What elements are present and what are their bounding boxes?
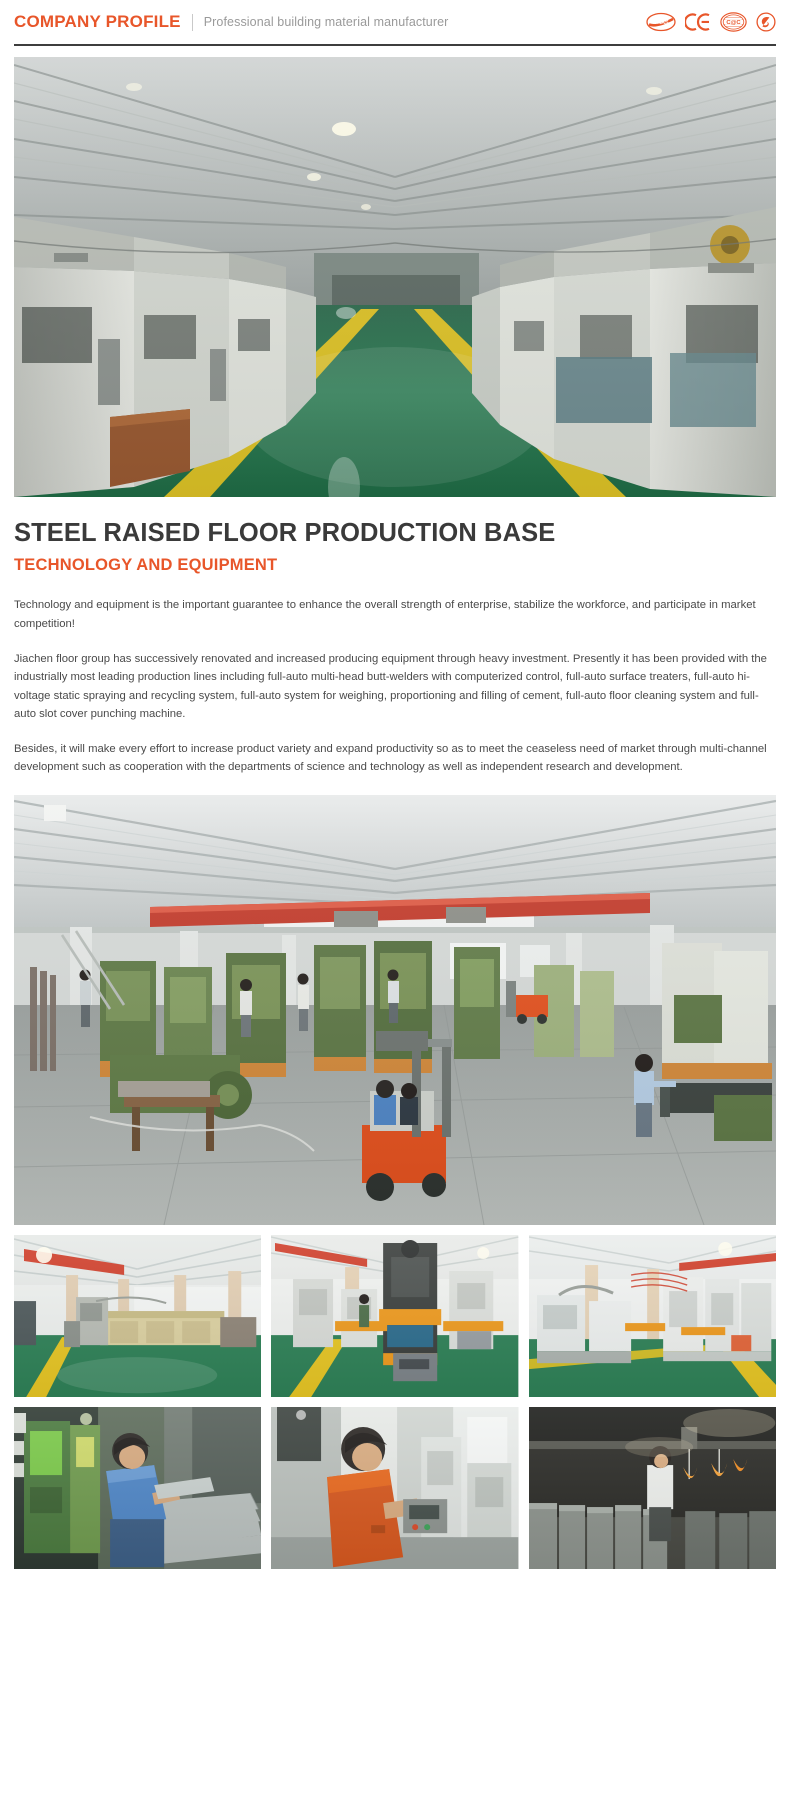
gallery-thumb-5[interactable] bbox=[271, 1407, 518, 1569]
gallery-thumb-3-illustration bbox=[529, 1235, 776, 1397]
gallery-thumb-4[interactable] bbox=[14, 1407, 261, 1569]
page-header: COMPANY PROFILE Professional building ma… bbox=[0, 0, 790, 44]
header-underline bbox=[14, 44, 776, 46]
gallery-grid-row-1 bbox=[14, 1235, 776, 1397]
page-title: COMPANY PROFILE bbox=[14, 12, 181, 32]
article-subtitle: TECHNOLOGY AND EQUIPMENT bbox=[14, 556, 776, 575]
hero-image bbox=[14, 57, 776, 497]
gallery-thumb-6[interactable] bbox=[529, 1407, 776, 1569]
gallery-thumb-3[interactable] bbox=[529, 1235, 776, 1397]
swirl-badge-icon bbox=[756, 12, 776, 32]
gallery-grid-row-2 bbox=[14, 1407, 776, 1569]
svg-text:CNAS: CNAS bbox=[653, 20, 669, 26]
svg-text:C@C: C@C bbox=[726, 20, 741, 26]
gallery-thumb-2-illustration bbox=[271, 1235, 518, 1397]
ce-badge-icon bbox=[685, 12, 711, 32]
header-tagline: Professional building material manufactu… bbox=[204, 15, 449, 29]
gallery-thumb-6-illustration bbox=[529, 1407, 776, 1569]
cqc-badge-icon: C@C bbox=[720, 12, 747, 32]
gallery-thumb-4-illustration bbox=[14, 1407, 261, 1569]
article-content: STEEL RAISED FLOOR PRODUCTION BASE TECHN… bbox=[0, 497, 790, 777]
gallery-thumb-1[interactable] bbox=[14, 1235, 261, 1397]
article-paragraph-1: Technology and equipment is the importan… bbox=[14, 596, 776, 633]
certification-badges: CNAS C@C bbox=[646, 12, 776, 32]
gallery-thumb-2[interactable] bbox=[271, 1235, 518, 1397]
article-paragraph-2: Jiachen floor group has successively ren… bbox=[14, 650, 776, 723]
article-paragraph-3: Besides, it will make every effort to in… bbox=[14, 740, 776, 777]
article-title: STEEL RAISED FLOOR PRODUCTION BASE bbox=[14, 519, 776, 548]
workshop-illustration bbox=[14, 795, 776, 1225]
header-divider bbox=[192, 14, 193, 31]
workshop-image bbox=[14, 795, 776, 1225]
hero-illustration bbox=[14, 57, 776, 497]
gallery-thumb-1-illustration bbox=[14, 1235, 261, 1397]
cnas-badge-icon: CNAS bbox=[646, 12, 676, 32]
gallery-thumb-5-illustration bbox=[271, 1407, 518, 1569]
